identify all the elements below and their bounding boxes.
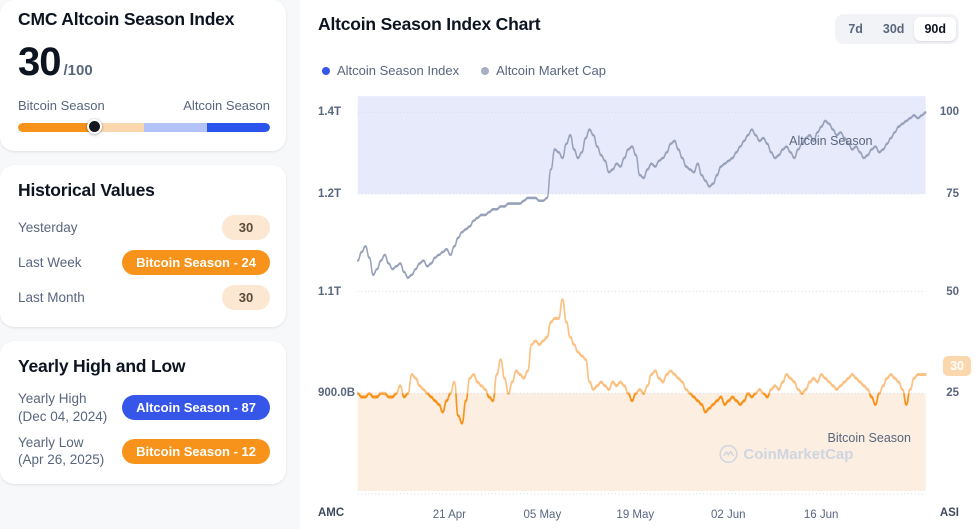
row-label: Last Week <box>18 254 82 271</box>
list-item: Last Week Bitcoin Season - 24 <box>18 250 270 276</box>
range-button-30d[interactable]: 30d <box>873 17 915 41</box>
status-badge: Altcoin Season - 87 <box>122 395 270 420</box>
y-axis-name-left: AMC <box>318 507 344 519</box>
row-label-main: Yearly High <box>18 391 87 406</box>
index-score-denominator: /100 <box>64 62 93 79</box>
status-badge: 30 <box>222 215 270 240</box>
row-label: Yesterday <box>18 219 78 236</box>
y-axis-tick-right: 25 <box>946 387 959 399</box>
chart-plot-area[interactable]: 1.4T1.2T1.1T900.0B100755025AMCASI21 Apr0… <box>318 88 959 495</box>
index-score: 30 /100 <box>18 42 270 82</box>
y-axis-name-right: ASI <box>940 507 959 519</box>
gauge-segment-bitcoin-strong <box>18 123 91 132</box>
legend-item-altcoin-season-index[interactable]: Altcoin Season Index <box>322 63 459 78</box>
index-summary-card: CMC Altcoin Season Index 30 /100 Bitcoin… <box>0 0 286 151</box>
index-score-value: 30 <box>18 42 61 82</box>
status-badge: Bitcoin Season - 12 <box>122 439 270 464</box>
chart-title: Altcoin Season Index Chart <box>318 14 540 35</box>
yearly-high-low-list: Yearly High (Dec 04, 2024) Altcoin Seaso… <box>18 390 270 468</box>
y-axis-tick-left: 1.4T <box>318 106 341 118</box>
row-label: Yearly Low (Apr 26, 2025) <box>18 434 104 469</box>
gauge-segment-altcoin-strong <box>207 123 270 132</box>
range-button-7d[interactable]: 7d <box>838 17 873 41</box>
status-badge: 30 <box>222 285 270 310</box>
y-axis-tick-left: 1.1T <box>318 286 341 298</box>
watermark-label: CoinMarketCap <box>743 446 853 463</box>
legend-dot-icon <box>322 67 330 75</box>
legend-label: Altcoin Market Cap <box>496 63 606 78</box>
legend-dot-icon <box>481 67 489 75</box>
list-item: Yesterday 30 <box>18 215 270 241</box>
page-title: CMC Altcoin Season Index <box>18 8 270 31</box>
y-axis-tick-right: 75 <box>946 188 959 200</box>
x-axis-tick: 16 Jun <box>804 509 839 521</box>
y-axis-tick-left: 1.2T <box>318 188 341 200</box>
chart-header: Altcoin Season Index Chart 7d 30d 90d <box>318 14 959 44</box>
chart-annotation-bitcoin-season: Bitcoin Season <box>828 431 911 445</box>
current-value-badge: 30 <box>943 356 971 376</box>
list-item: Last Month 30 <box>18 285 270 311</box>
row-label-main: Yearly Low <box>18 435 84 450</box>
row-label: Yearly High (Dec 04, 2024) <box>18 390 107 425</box>
coinmarketcap-logo-icon <box>718 444 738 464</box>
x-axis-tick: 19 May <box>616 509 654 521</box>
chart-legend: Altcoin Season Index Altcoin Market Cap <box>318 63 959 78</box>
range-button-90d[interactable]: 90d <box>914 17 956 41</box>
y-axis-tick-right: 50 <box>946 286 959 298</box>
y-axis-tick-right: 100 <box>940 106 959 118</box>
chart-annotation-altcoin-season: Altcoin Season <box>789 134 872 148</box>
gauge-label-bitcoin: Bitcoin Season <box>18 98 105 113</box>
altcoin-season-page: CMC Altcoin Season Index 30 /100 Bitcoin… <box>0 0 975 529</box>
row-label-date: (Apr 26, 2025) <box>18 451 104 468</box>
legend-label: Altcoin Season Index <box>337 63 459 78</box>
yearly-high-low-title: Yearly High and Low <box>18 355 270 378</box>
x-axis-tick: 05 May <box>523 509 561 521</box>
x-axis-tick: 21 Apr <box>433 509 466 521</box>
gauge-labels: Bitcoin Season Altcoin Season <box>18 98 270 113</box>
status-badge: Bitcoin Season - 24 <box>122 250 270 275</box>
historical-values-title: Historical Values <box>18 179 270 202</box>
list-item: Yearly High (Dec 04, 2024) Altcoin Seaso… <box>18 390 270 425</box>
gauge-segment-altcoin-light <box>144 123 207 132</box>
gauge-knob[interactable] <box>87 119 102 134</box>
list-item: Yearly Low (Apr 26, 2025) Bitcoin Season… <box>18 434 270 469</box>
coinmarketcap-watermark: CoinMarketCap <box>718 444 853 464</box>
gauge-track <box>18 123 270 132</box>
sidebar: CMC Altcoin Season Index 30 /100 Bitcoin… <box>0 0 300 529</box>
range-toggle[interactable]: 7d 30d 90d <box>835 14 959 44</box>
gauge-label-altcoin: Altcoin Season <box>183 98 270 113</box>
historical-values-list: Yesterday 30 Last Week Bitcoin Season - … <box>18 215 270 311</box>
y-axis-tick-left: 900.0B <box>318 387 355 399</box>
row-label: Last Month <box>18 289 85 306</box>
x-axis-tick: 02 Jun <box>711 509 746 521</box>
legend-item-altcoin-market-cap[interactable]: Altcoin Market Cap <box>481 63 606 78</box>
yearly-high-low-card: Yearly High and Low Yearly High (Dec 04,… <box>0 341 286 485</box>
row-label-date: (Dec 04, 2024) <box>18 408 107 425</box>
season-gauge[interactable] <box>18 121 270 135</box>
historical-values-card: Historical Values Yesterday 30 Last Week… <box>0 165 286 327</box>
chart-panel: Altcoin Season Index Chart 7d 30d 90d Al… <box>300 0 975 529</box>
